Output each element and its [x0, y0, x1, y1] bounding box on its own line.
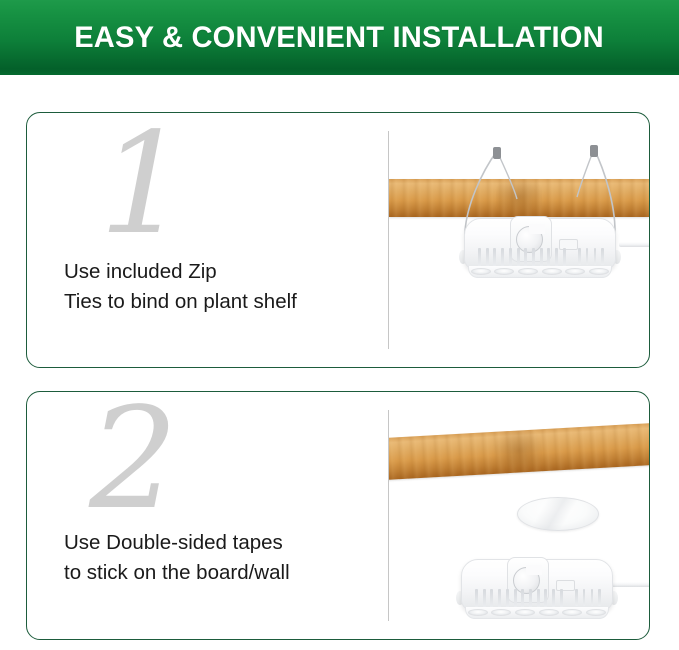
- step-2-line-2: to stick on the board/wall: [64, 558, 384, 588]
- step-1-text-column: 1 Use included Zip Ties to bind on plant…: [27, 113, 387, 367]
- step-1-line-2: Ties to bind on plant shelf: [64, 287, 384, 317]
- fixture-vents-right: [578, 248, 604, 265]
- double-sided-tape-icon: [517, 497, 599, 531]
- led-lens: [491, 609, 511, 616]
- led-lens: [539, 609, 559, 616]
- fixture-vents-right: [575, 589, 601, 606]
- page-title: EASY & CONVENIENT INSTALLATION: [75, 21, 605, 55]
- fixture-led-panel: [465, 607, 609, 619]
- header-banner: EASY & CONVENIENT INSTALLATION: [0, 0, 679, 75]
- led-lens: [562, 609, 582, 616]
- step-2-description: Use Double-sided tapes to stick on the b…: [64, 528, 384, 588]
- bamboo-shelf-icon: [389, 423, 649, 480]
- power-cord: [619, 242, 649, 247]
- led-lens: [494, 268, 514, 275]
- step-1-description: Use included Zip Ties to bind on plant s…: [64, 257, 384, 317]
- step-1-line-1: Use included Zip: [64, 257, 384, 287]
- step-2-illustration: [389, 392, 649, 639]
- fixture-led-panel: [468, 266, 612, 278]
- led-lens: [468, 609, 488, 616]
- installation-step-card-2: 2 Use Double-sided tapes to stick on the…: [26, 391, 650, 640]
- led-lens: [586, 609, 606, 616]
- fixture-vents-left: [478, 248, 566, 267]
- shelf-knot: [495, 429, 543, 474]
- led-lens: [565, 268, 585, 275]
- step-1-numeral: 1: [99, 115, 188, 255]
- led-lens: [518, 268, 538, 275]
- led-lens: [589, 268, 609, 275]
- led-grow-light-fixture: [461, 559, 613, 625]
- step-2-numeral: 2: [89, 391, 178, 530]
- fixture-vents-left: [475, 589, 563, 608]
- power-cord: [609, 582, 649, 587]
- step-1-illustration: [389, 113, 649, 367]
- installation-step-card-1: 1 Use included Zip Ties to bind on plant…: [26, 112, 650, 368]
- led-grow-light-fixture: [464, 218, 616, 284]
- step-2-line-1: Use Double-sided tapes: [64, 528, 384, 558]
- led-lens: [542, 268, 562, 275]
- led-lens: [515, 609, 535, 616]
- led-lens: [471, 268, 491, 275]
- step-2-text-column: 2 Use Double-sided tapes to stick on the…: [27, 392, 387, 639]
